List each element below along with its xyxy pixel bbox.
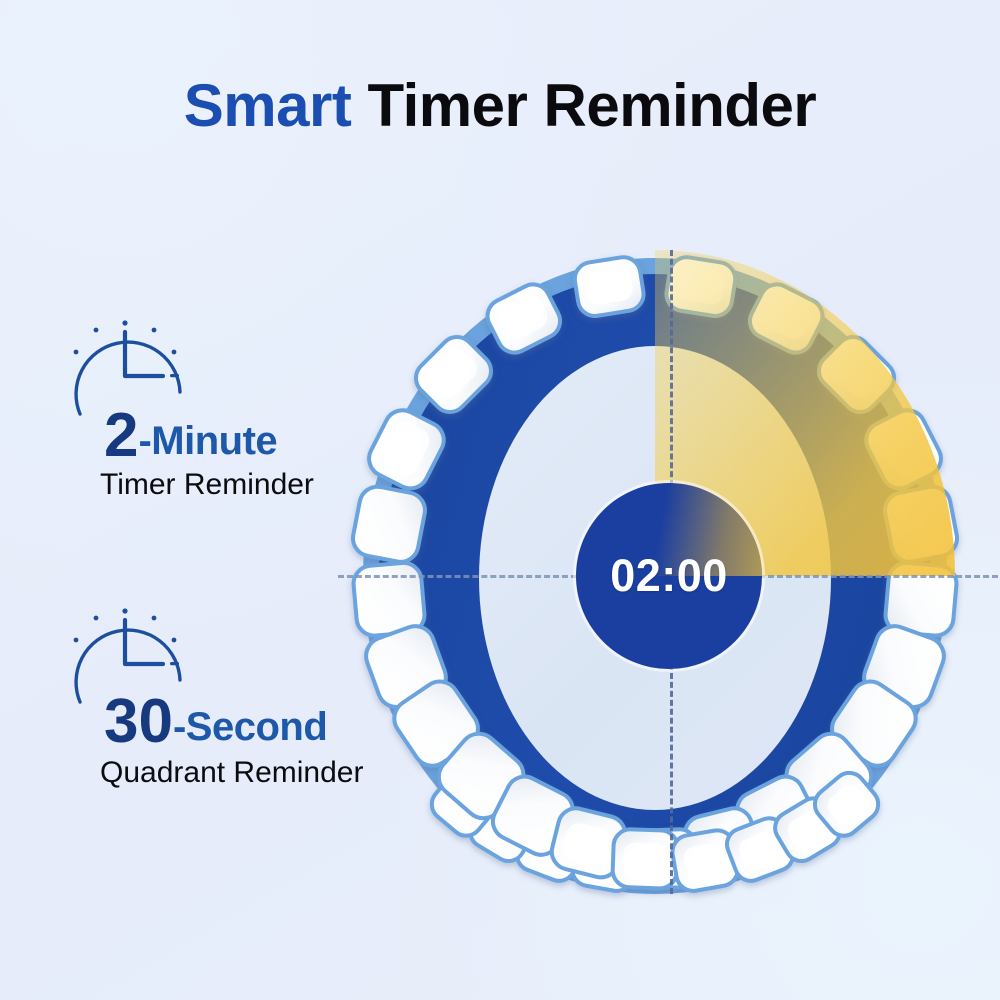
timer-display: 02:00 [576,483,762,669]
tooth [612,829,678,889]
feature-number: 2 [104,401,138,470]
title-rest: Timer Reminder [351,72,816,139]
feature-subtitle-30-second: Quadrant Reminder [100,756,363,790]
feature-number: 30 [104,687,173,756]
timer-value: 02:00 [610,550,728,602]
tooth [572,255,646,319]
title-accent-word: Smart [184,72,352,139]
quadrant-divider-vertical-bottom [670,664,673,894]
poster-canvas: Smart Timer Reminder [0,0,1000,1000]
feature-unit: -Second [173,705,327,749]
feature-subtitle-2-minute: Timer Reminder [100,468,314,502]
feature-unit: -Minute [138,419,277,463]
quadrant-divider-vertical-top [670,250,673,486]
feature-headline: 30-Second [104,691,327,753]
feature-headline: 2-Minute [104,405,277,467]
page-title: Smart Timer Reminder [0,74,1000,138]
